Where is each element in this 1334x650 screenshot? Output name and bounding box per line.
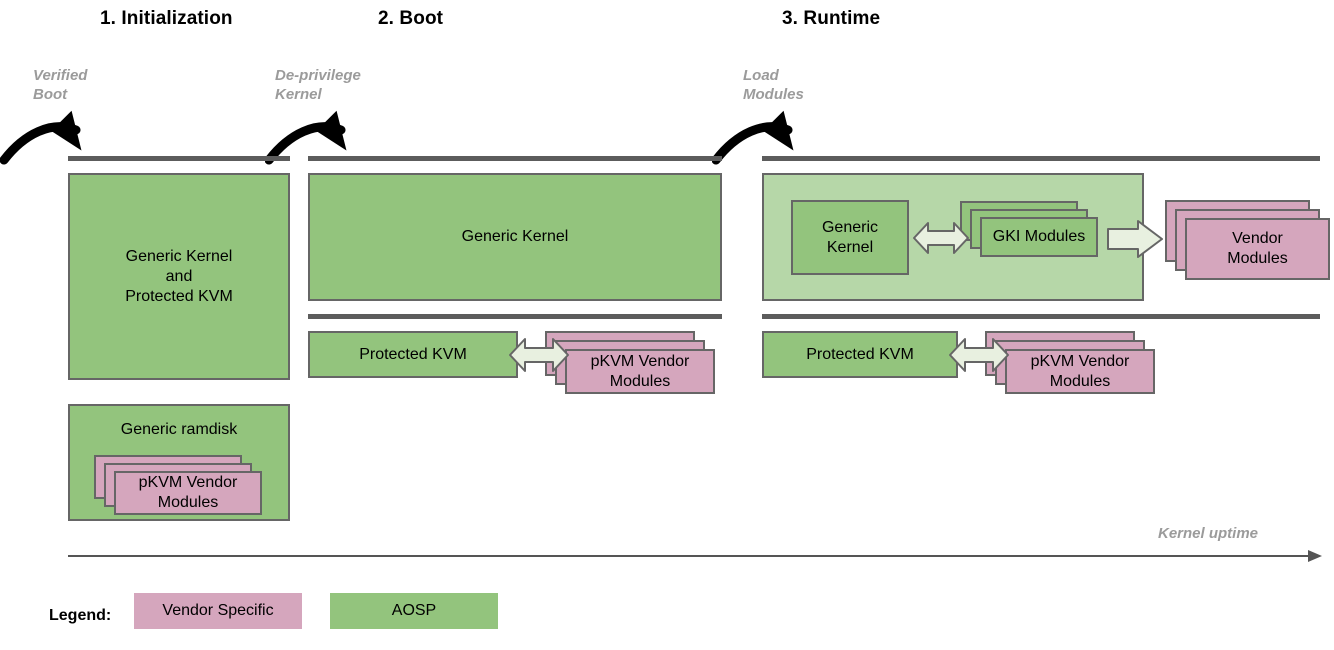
legend-title: Legend:	[49, 607, 111, 625]
box-generic-kernel-phase3: Generic Kernel	[791, 200, 909, 275]
stack-layer-front: pKVM Vendor Modules	[114, 471, 262, 515]
stack-pkvm-vendor-modules-phase3: pKVM Vendor Modules	[985, 331, 1160, 403]
diagram-canvas: 1. Initialization 2. Boot 3. Runtime Ver…	[0, 0, 1334, 650]
bidirectional-arrow-phase3-kvm-modules	[948, 332, 1010, 378]
stack-layer-front: pKVM Vendor Modules	[1005, 349, 1155, 394]
stack-gki-modules: GKI Modules	[960, 201, 1100, 269]
rule-phase2-top	[308, 156, 722, 161]
transition-caption-load-modules: Load Modules	[743, 66, 804, 104]
transition-caption-verified-boot: Verified Boot	[33, 66, 87, 104]
axis-label-kernel-uptime: Kernel uptime	[1158, 525, 1258, 542]
box-generic-kernel-and-protected-kvm: Generic Kernel and Protected KVM	[68, 173, 290, 380]
rule-phase3-top	[762, 156, 1320, 161]
stack-layer-front: pKVM Vendor Modules	[565, 349, 715, 394]
stack-pkvm-vendor-modules-phase2: pKVM Vendor Modules	[545, 331, 720, 403]
stack-vendor-modules: Vendor Modules	[1165, 200, 1334, 282]
rule-phase1-top	[68, 156, 290, 161]
rule-phase2-middle	[308, 314, 722, 319]
box-generic-kernel-phase2: Generic Kernel	[308, 173, 722, 301]
bidirectional-arrow-phase2-kvm-modules	[508, 332, 570, 378]
phase-title-boot: 2. Boot	[378, 8, 443, 30]
phase-title-initialization: 1. Initialization	[100, 8, 233, 30]
stack-layer-front: GKI Modules	[980, 217, 1098, 257]
flow-arrow-gki-to-vendor-modules	[1106, 218, 1164, 260]
box-protected-kvm-phase3: Protected KVM	[762, 331, 958, 378]
box-protected-kvm-phase2: Protected KVM	[308, 331, 518, 378]
rule-phase3-middle	[762, 314, 1320, 319]
timeline-axis-arrow	[64, 548, 1326, 564]
legend-item-vendor-specific: Vendor Specific	[134, 593, 302, 629]
phase-title-runtime: 3. Runtime	[782, 8, 880, 30]
legend-item-aosp: AOSP	[330, 593, 498, 629]
transition-caption-de-privilege-kernel: De-privilege Kernel	[275, 66, 361, 104]
stack-pkvm-vendor-modules-ramdisk: pKVM Vendor Modules	[94, 455, 274, 515]
stack-layer-front: Vendor Modules	[1185, 218, 1330, 280]
bidirectional-arrow-kernel-gki	[912, 216, 970, 260]
